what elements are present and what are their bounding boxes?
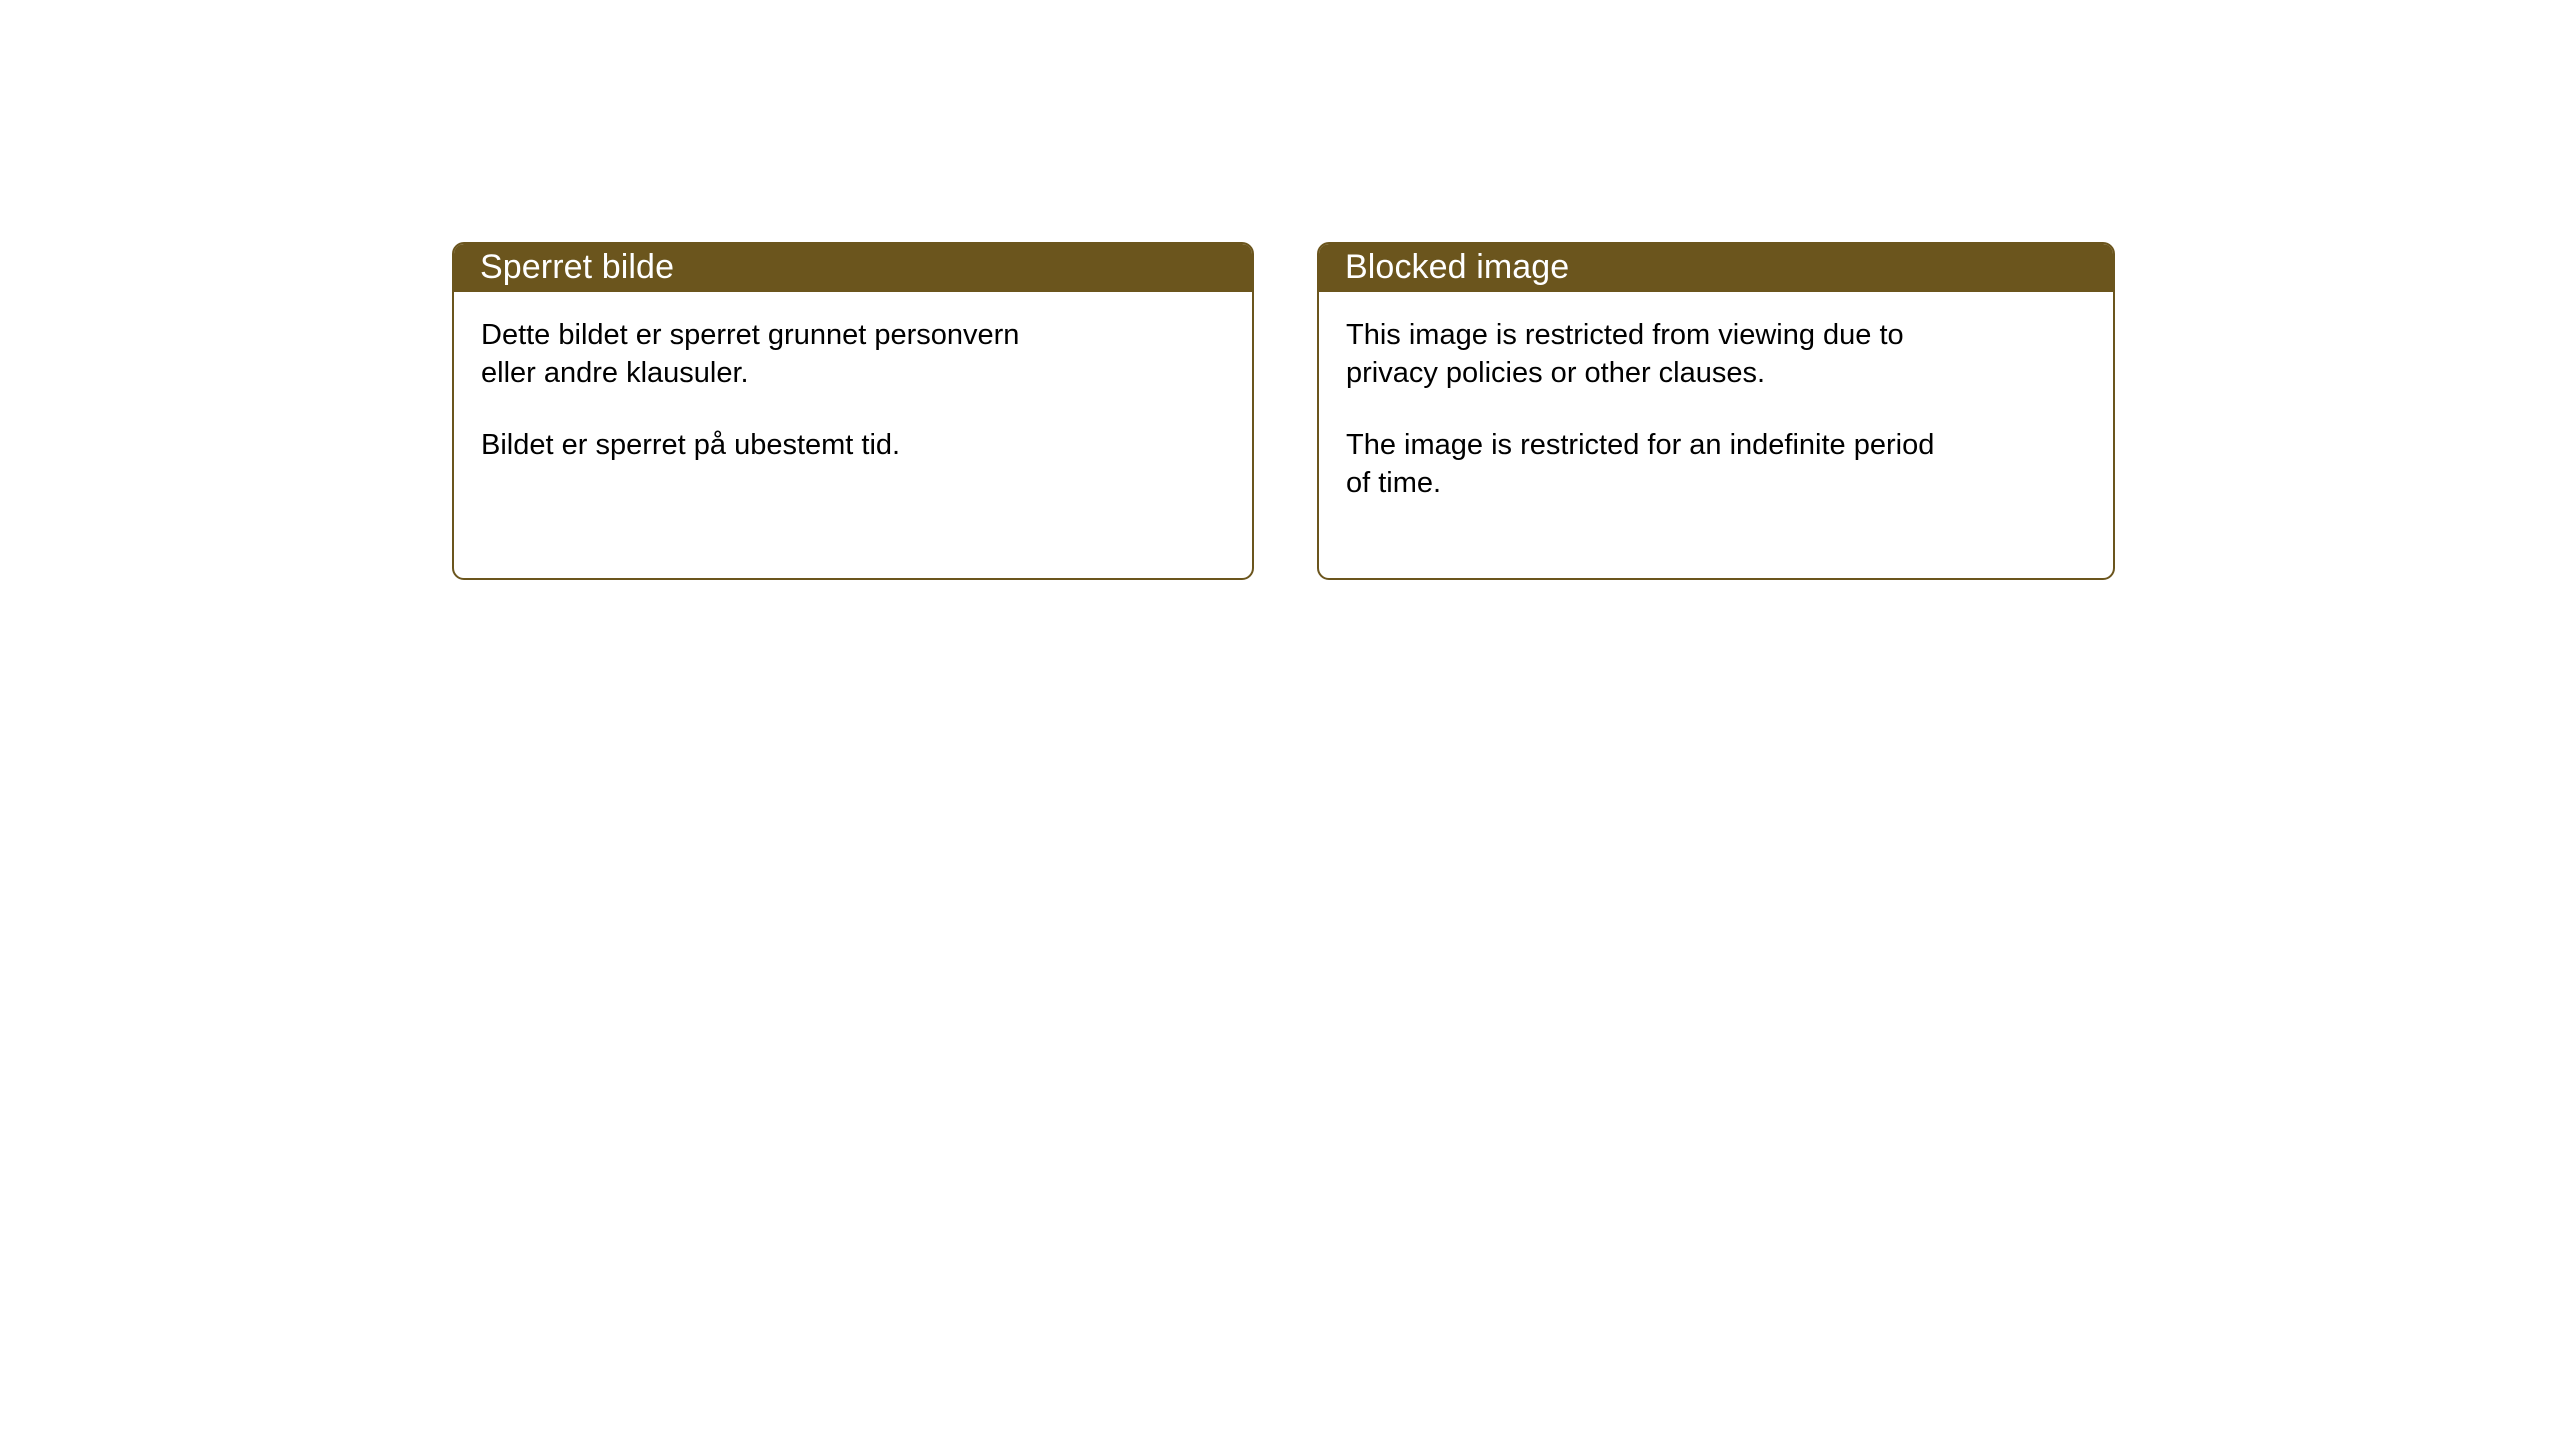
card-body-no: Dette bildet er sperret grunnet personve… (454, 292, 1252, 464)
page-canvas: Sperret bilde Dette bildet er sperret gr… (0, 0, 2560, 1440)
card-paragraph-duration-en: The image is restricted for an indefinit… (1346, 426, 2087, 503)
card-header-no: Sperret bilde (452, 242, 1254, 292)
card-header-en: Blocked image (1317, 242, 2115, 292)
paragraph-spacer-no (481, 393, 1226, 426)
card-paragraph-reason-en: This image is restricted from viewing du… (1346, 316, 2087, 393)
blocked-image-notice-card-no: Sperret bilde Dette bildet er sperret gr… (452, 242, 1254, 580)
paragraph-spacer-en (1346, 393, 2087, 426)
card-title-no: Sperret bilde (480, 250, 674, 284)
blocked-image-notice-card-en: Blocked image This image is restricted f… (1317, 242, 2115, 580)
card-paragraph-reason-no: Dette bildet er sperret grunnet personve… (481, 316, 1226, 393)
card-body-en: This image is restricted from viewing du… (1319, 292, 2113, 502)
card-paragraph-duration-no: Bildet er sperret på ubestemt tid. (481, 426, 1226, 464)
card-title-en: Blocked image (1345, 250, 1569, 284)
